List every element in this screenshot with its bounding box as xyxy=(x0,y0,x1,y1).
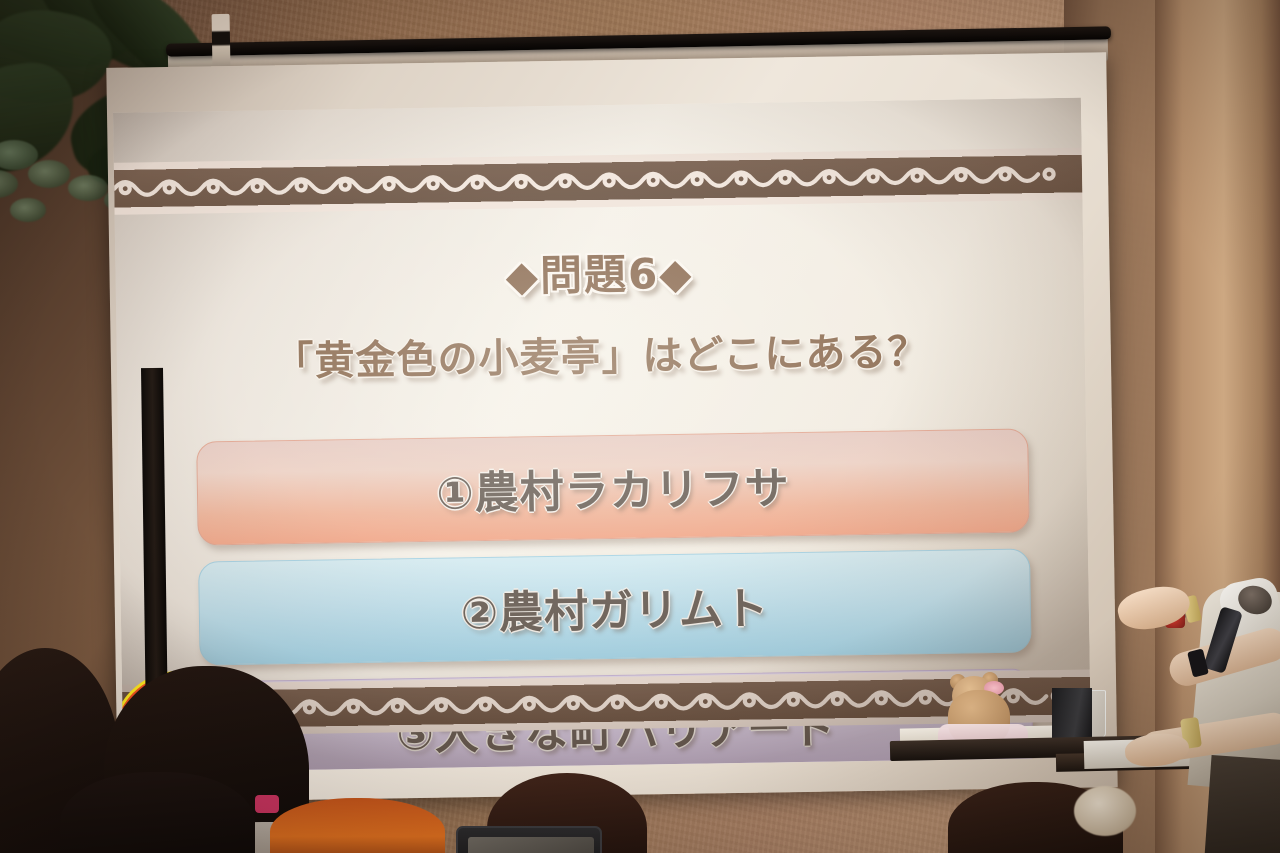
quiz-slide: ◆問題6◆ 「黄金色の小麦亭」はどこにある？ ①農村ラカリフサ ②農村ガリムト … xyxy=(113,98,1091,773)
room-scene: ◆問題6◆ 「黄金色の小麦亭」はどこにある？ ①農村ラカリフサ ②農村ガリムト … xyxy=(0,0,1280,853)
screen-clip xyxy=(212,14,231,68)
answer-option-1[interactable]: ①農村ラカリフサ xyxy=(196,428,1030,545)
slide-body: ◆問題6◆ 「黄金色の小麦亭」はどこにある？ ①農村ラカリフサ ②農村ガリムト … xyxy=(115,200,1090,685)
wall-pillar-right xyxy=(1155,0,1280,853)
question-text: 「黄金色の小麦亭」はどこにある？ xyxy=(116,317,1085,390)
answer-option-1-label: ①農村ラカリフサ xyxy=(436,452,790,522)
answer-option-2[interactable]: ②農村ガリムト xyxy=(198,548,1032,665)
projection-screen: ◆問題6◆ 「黄金色の小麦亭」はどこにある？ ①農村ラカリフサ ②農村ガリムト … xyxy=(106,52,1117,803)
page-title: ◆問題6◆ xyxy=(115,234,1084,310)
answer-option-2-label: ②農村ガリムト xyxy=(460,573,769,642)
scroll-wave-icon xyxy=(122,677,1090,730)
scroll-wave-icon xyxy=(114,155,1082,208)
